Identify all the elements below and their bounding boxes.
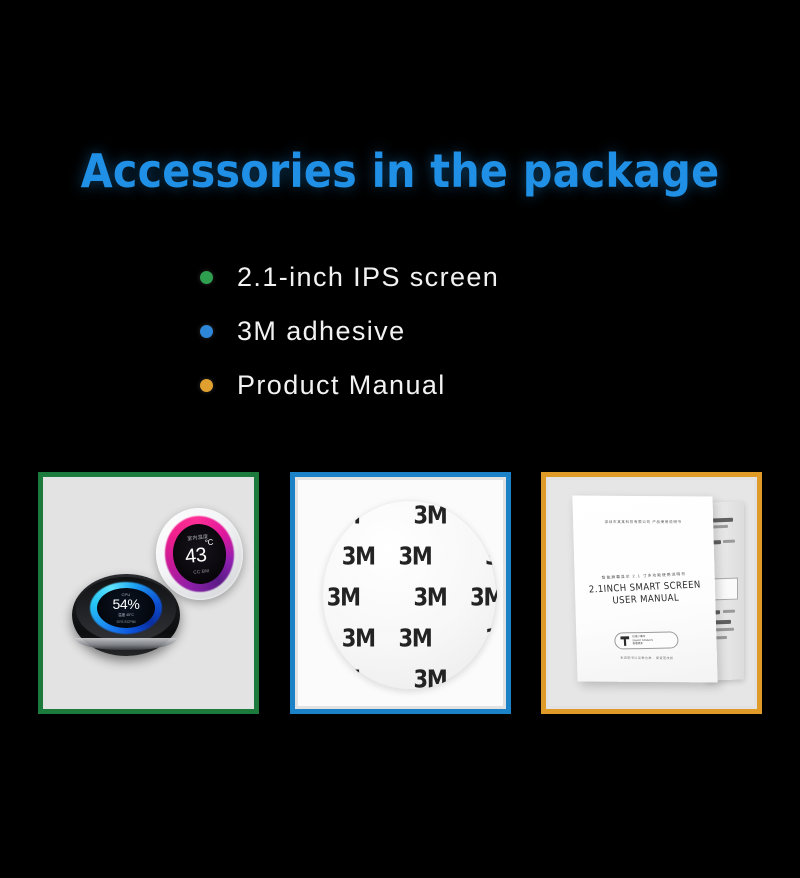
3m-logo-mark: 3M — [342, 541, 375, 569]
device-black-round-screen: CPU 54% 温度 45°C SYS ECPIM — [72, 574, 180, 656]
device-black-display: CPU 54% 温度 45°C SYS ECPIM — [97, 588, 155, 628]
3m-logo-mark: 3M — [413, 500, 446, 528]
list-item: 2.1-inch IPS screen — [200, 250, 680, 304]
manual-badge-text: 扫描二维码 SMART SCREEN 查看更多 — [632, 635, 653, 646]
panel-user-manual-photo: 深圳市某某科技有限公司 产品使用说明书 智能屏幕显示 2.1 寸多功能使用说明书… — [541, 472, 762, 714]
device-black-base-band — [75, 638, 177, 650]
manual-back-textline — [723, 540, 735, 543]
feature-label-3m-adhesive: 3M adhesive — [237, 316, 406, 347]
bullet-dot-blue — [200, 325, 213, 338]
accessory-photo-row: 室内温度 43°C CC:BM CPU 54% 温度 45°C SYS ECPI… — [38, 472, 762, 714]
manual-footer-text: 本说明书以实物为准 · 保留更改权 — [577, 655, 717, 660]
accessories-feature-list: 2.1-inch IPS screen 3M adhesive Product … — [200, 250, 680, 412]
manual-back-box — [712, 578, 738, 601]
manual-back-textline — [711, 525, 728, 529]
page-title: Accessories in the package — [0, 143, 800, 199]
manual-back-textline — [711, 518, 733, 523]
manual-photo-canvas: 深圳市某某科技有限公司 产品使用说明书 智能屏幕显示 2.1 寸多功能使用说明书… — [549, 480, 754, 706]
manual-header-text: 深圳市某某科技有限公司 产品使用说明书 — [573, 520, 713, 525]
3m-logo-mark: 3M — [470, 500, 496, 528]
3m-logo-mark: 3M — [342, 623, 375, 651]
manual-title-block: 智能屏幕显示 2.1 寸多功能使用说明书 2.1INCH SMART SCREE… — [574, 571, 716, 609]
list-item: 3M adhesive — [200, 304, 680, 358]
feature-label-product-manual: Product Manual — [237, 370, 446, 401]
ips-photo-canvas: 室内温度 43°C CC:BM CPU 54% 温度 45°C SYS ECPI… — [46, 480, 251, 706]
device-black-label-bottom: SYS ECPIM — [116, 620, 135, 624]
3m-logo-mark: 3M — [413, 582, 446, 610]
device-white-value: 43°C — [184, 541, 216, 568]
3m-logo-mark: 3M — [327, 500, 360, 528]
adhesive-disc: 3M3M3M3M3M3M3M3M3M3M3M3M3M3M3M — [322, 500, 497, 690]
3m-logo-mark: 3M — [327, 664, 360, 690]
device-black-value: 54% — [112, 597, 139, 612]
3m-logo-mark: 3M — [398, 541, 431, 569]
3m-logo-mark: 3M — [485, 623, 496, 651]
3m-logo-mark: 3M — [470, 664, 496, 690]
3m-logo-mark: 3M — [327, 582, 360, 610]
3m-logo-mark: 3M — [470, 582, 496, 610]
3m-logo-mark: 3M — [413, 664, 446, 690]
device-black-label-mid: 温度 45°C — [118, 613, 134, 618]
panel-3m-adhesive-photo: 3M3M3M3M3M3M3M3M3M3M3M3M3M3M3M — [290, 472, 511, 714]
manual-front-cover: 深圳市某某科技有限公司 产品使用说明书 智能屏幕显示 2.1 寸多功能使用说明书… — [572, 496, 717, 683]
3m-logo-mark: 3M — [398, 623, 431, 651]
bullet-dot-orange — [200, 379, 213, 392]
3m-logo-mark: 3M — [485, 541, 496, 569]
panel-ips-screen-photo: 室内温度 43°C CC:BM CPU 54% 温度 45°C SYS ECPI… — [38, 472, 259, 714]
manual-back-textline — [723, 610, 735, 613]
adhesive-3m-logo-pattern: 3M3M3M3M3M3M3M3M3M3M3M3M3M3M3M — [322, 500, 497, 690]
adhesive-photo-canvas: 3M3M3M3M3M3M3M3M3M3M3M3M3M3M3M — [298, 480, 503, 706]
device-white-label-bottom: CC:BM — [193, 568, 209, 575]
list-item: Product Manual — [200, 358, 680, 412]
device-white-unit: °C — [205, 538, 214, 548]
manual-logo-icon — [620, 636, 630, 646]
device-black-label-top: CPU — [121, 592, 130, 597]
manual-qr-badge: 扫描二维码 SMART SCREEN 查看更多 — [614, 631, 679, 649]
feature-label-ips-screen: 2.1-inch IPS screen — [237, 262, 499, 293]
bullet-dot-green — [200, 271, 213, 284]
